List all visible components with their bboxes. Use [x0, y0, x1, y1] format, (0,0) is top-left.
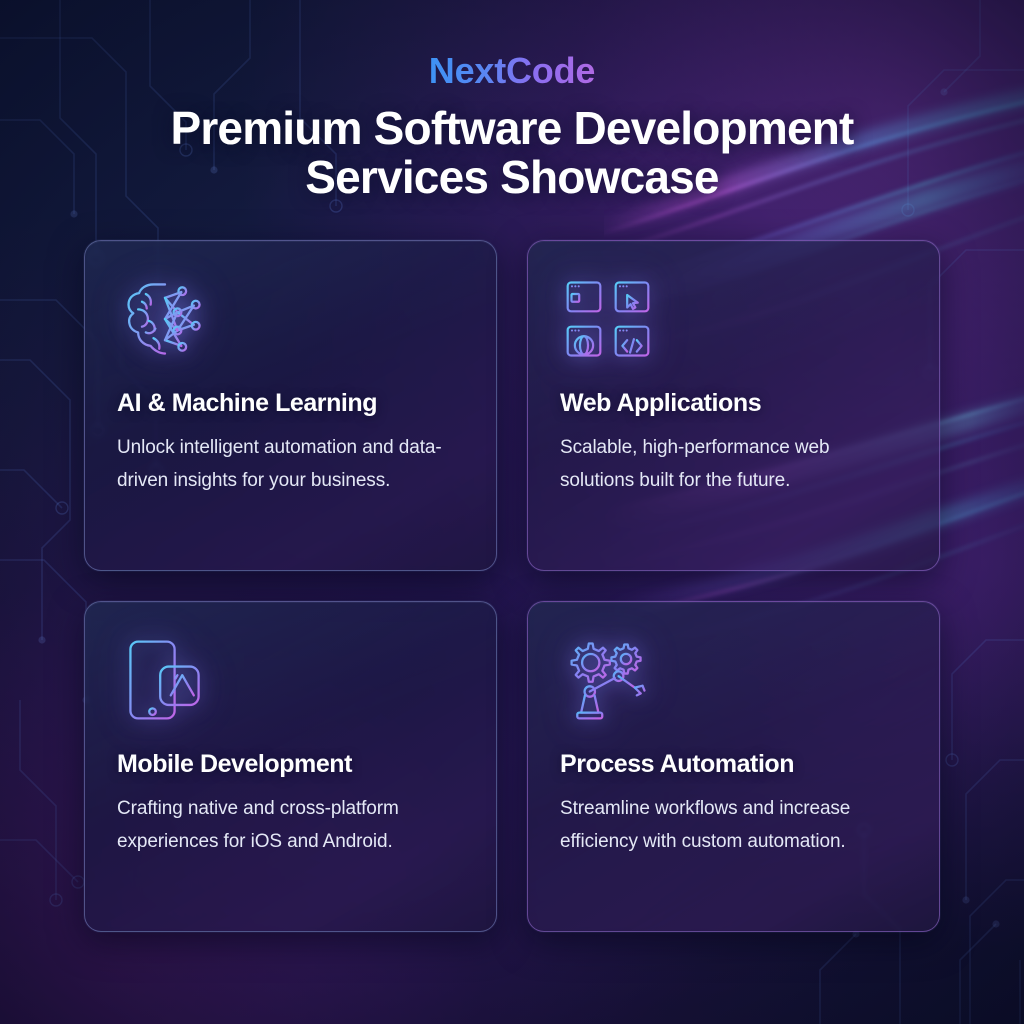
service-card-web-applications[interactable]: Web Applications Scalable, high-performa… [527, 240, 940, 571]
card-description: Streamline workflows and increase effici… [560, 793, 907, 859]
web-windows-network-icon [560, 271, 656, 367]
brain-neural-network-icon [117, 271, 213, 367]
poster-canvas: NextCode Premium Software Development Se… [0, 0, 1024, 1024]
card-title: Process Automation [560, 750, 907, 779]
page-title: Premium Software Development Services Sh… [170, 104, 853, 203]
poster-content: NextCode Premium Software Development Se… [0, 0, 1024, 1024]
card-description: Scalable, high-performance web solutions… [560, 432, 907, 498]
headline-line-1: Premium Software Development [170, 102, 853, 154]
service-card-mobile-development[interactable]: Mobile Development Crafting native and c… [84, 601, 497, 932]
robot-arm-gears-icon [560, 632, 656, 728]
mobile-phone-appstore-icon [117, 632, 213, 728]
service-card-ai-machine-learning[interactable]: AI & Machine Learning Unlock intelligent… [84, 240, 497, 571]
brand-name: NextCode [429, 52, 595, 90]
headline-line-2: Services Showcase [305, 151, 718, 203]
card-title: AI & Machine Learning [117, 389, 464, 418]
service-card-process-automation[interactable]: Process Automation Streamline workflows … [527, 601, 940, 932]
card-title: Web Applications [560, 389, 907, 418]
card-title: Mobile Development [117, 750, 464, 779]
card-description: Crafting native and cross-platform exper… [117, 793, 464, 859]
card-description: Unlock intelligent automation and data-d… [117, 432, 464, 498]
service-card-grid: AI & Machine Learning Unlock intelligent… [84, 240, 940, 932]
